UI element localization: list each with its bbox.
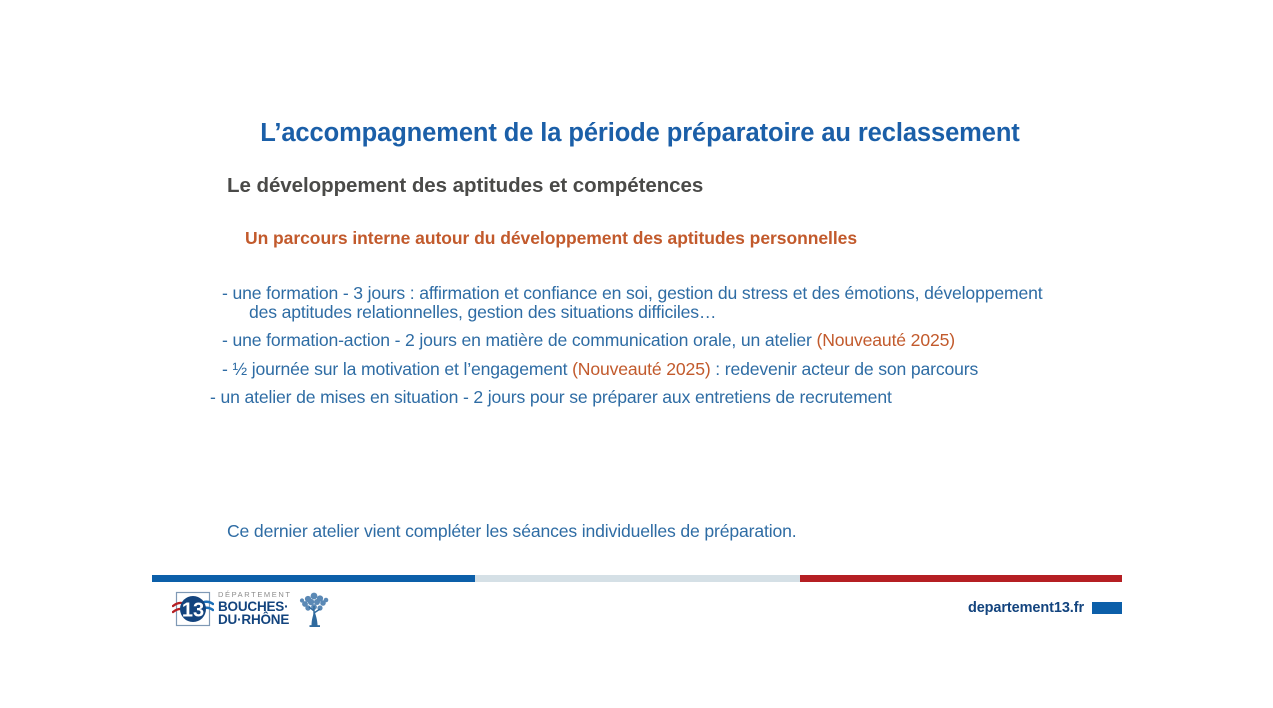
footer-website[interactable]: departement13.fr bbox=[968, 600, 1122, 616]
footer-accent-block-icon bbox=[1092, 602, 1122, 614]
section-heading: Un parcours interne autour du développem… bbox=[245, 228, 857, 249]
olive-tree-icon bbox=[298, 591, 332, 627]
list-item-text: ½ journée sur la motivation et l’engagem… bbox=[232, 359, 572, 379]
tricolor-divider bbox=[152, 575, 1122, 582]
tricolor-segment-white bbox=[475, 575, 800, 582]
bullet-dash: - bbox=[222, 359, 228, 379]
logo-wordmark: DÉPARTEMENT BOUCHES· DU·RHÔNE bbox=[218, 591, 292, 627]
list-item: - une formation - 3 jours : affirmation … bbox=[222, 284, 1062, 321]
novelty-badge-text: (Nouveauté 2025) bbox=[816, 330, 954, 350]
list-item-text: une formation - 3 jours : affirmation et… bbox=[232, 283, 1042, 322]
page-title: L’accompagnement de la période préparato… bbox=[160, 119, 1120, 148]
svg-text:13: 13 bbox=[182, 600, 204, 622]
bullet-list: - une formation - 3 jours : affirmation … bbox=[222, 284, 1062, 417]
slide: L’accompagnement de la période préparato… bbox=[0, 0, 1273, 708]
logo-13-mark-icon: 13 bbox=[172, 589, 214, 629]
novelty-badge-text: (Nouveauté 2025) bbox=[572, 359, 710, 379]
list-item-text-after: : redevenir acteur de son parcours bbox=[711, 359, 979, 379]
bullet-dash: - bbox=[222, 283, 228, 303]
slide-subtitle: Le développement des aptitudes et compét… bbox=[227, 174, 703, 198]
logo-department-label: DÉPARTEMENT bbox=[218, 591, 292, 599]
list-item: - ½ journée sur la motivation et l’engag… bbox=[222, 360, 1062, 379]
list-item: - une formation-action - 2 jours en mati… bbox=[222, 331, 1062, 350]
tricolor-segment-red bbox=[800, 575, 1122, 582]
logo-name-line1: BOUCHES· bbox=[218, 600, 292, 614]
bullet-dash: - bbox=[222, 330, 228, 350]
bullet-dash: - bbox=[210, 387, 216, 407]
tricolor-segment-blue bbox=[152, 575, 475, 582]
logo-name-line2: DU·RHÔNE bbox=[218, 613, 292, 627]
footer-website-label: departement13.fr bbox=[968, 600, 1084, 616]
list-item-text: une formation-action - 2 jours en matièr… bbox=[232, 330, 816, 350]
closing-sentence: Ce dernier atelier vient compléter les s… bbox=[227, 521, 797, 542]
list-item: - un atelier de mises en situation - 2 j… bbox=[210, 388, 1062, 407]
department-logo: 13 DÉPARTEMENT BOUCHES· DU·RHÔNE bbox=[172, 589, 332, 629]
list-item-text: un atelier de mises en situation - 2 jou… bbox=[220, 387, 891, 407]
